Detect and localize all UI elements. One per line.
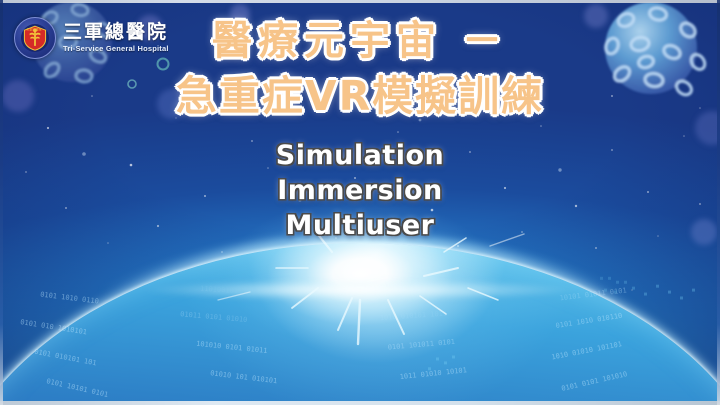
title-line-2: 急重症VR模擬訓練 (0, 69, 720, 124)
svg-text:1011 01010 10101: 1011 01010 10101 (399, 367, 467, 382)
svg-text:101010 0101 01011: 101010 0101 01011 (196, 340, 268, 355)
svg-text:0101 010101 101: 0101 010101 101 (34, 348, 98, 368)
subtitle-group: Simulation Immersion Multiuser (0, 138, 720, 243)
svg-text:0101 010 1010101: 0101 010 1010101 (20, 318, 88, 336)
svg-text:0101 10101 0101: 0101 10101 0101 (46, 378, 109, 400)
svg-text:1010 01010 101101: 1010 01010 101101 (551, 340, 623, 361)
svg-text:1010 010101 1011: 1010 010101 1011 (380, 310, 448, 323)
main-title: 醫療元宇宙 － 急重症VR模擬訓練 (0, 14, 720, 124)
slide-top-edge (0, 0, 720, 3)
slide-bottom-edge (0, 401, 720, 405)
svg-text:01010 101 010101: 01010 101 010101 (210, 370, 278, 386)
presentation-slide: 0101 1010 0110 1101001011 01010 010110 1… (0, 0, 720, 405)
svg-text:0101 101011 0101: 0101 101011 0101 (387, 338, 455, 352)
svg-text:0101 0101 101010: 0101 0101 101010 (561, 371, 628, 394)
subtitle-line-multiuser: Multiuser (0, 208, 720, 243)
subtitle-line-simulation: Simulation (0, 138, 720, 173)
light-burst-horizon-flare (80, 277, 640, 303)
svg-text:01011 0101 01010: 01011 0101 01010 (180, 311, 248, 325)
subtitle-line-immersion: Immersion (0, 173, 720, 208)
svg-text:0101 1010 010110: 0101 1010 010110 (555, 312, 623, 330)
title-line-1: 醫療元宇宙 － (0, 14, 720, 69)
